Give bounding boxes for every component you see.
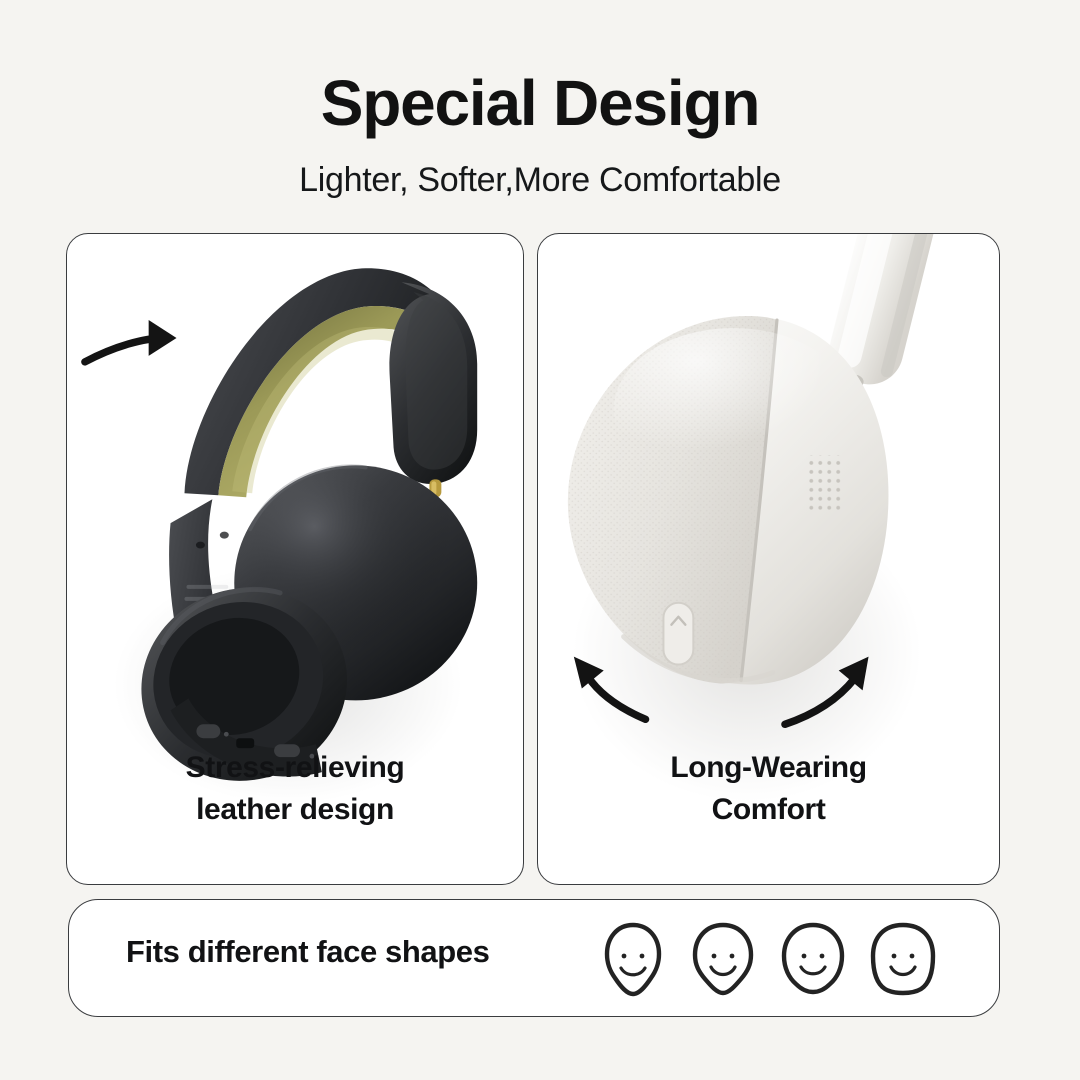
annotation-arrow-icon <box>85 320 177 362</box>
fits-face-shapes-label: Fits different face shapes <box>126 934 489 970</box>
face-icon-long <box>595 918 671 1000</box>
caption-line-1: Stress-relieving <box>67 747 523 790</box>
annotation-arrow-right-icon <box>785 657 869 725</box>
face-shape-icon-row <box>595 918 941 1000</box>
feature-card-stress-relieving[interactable]: Stress-relieving leather design <box>66 233 524 885</box>
page-title: Special Design <box>0 70 1080 137</box>
fits-face-shapes-bar[interactable]: Fits different face shapes <box>68 899 1000 1017</box>
caption-line-2: Comfort <box>538 789 999 832</box>
face-icon-round <box>775 918 851 1000</box>
card-caption-right: Long-Wearing Comfort <box>538 747 999 832</box>
caption-line-2: leather design <box>67 789 523 832</box>
caption-line-1: Long-Wearing <box>538 747 999 790</box>
card-caption-left: Stress-relieving leather design <box>67 747 523 832</box>
poster-canvas: Special Design Lighter, Softer,More Comf… <box>0 0 1080 1080</box>
face-icon-oval <box>685 918 761 1000</box>
page-subtitle: Lighter, Softer,More Comfortable <box>0 162 1080 199</box>
feature-card-long-wearing[interactable]: Long-Wearing Comfort <box>537 233 1000 885</box>
annotation-arrow-left-icon <box>574 657 646 720</box>
face-icon-square <box>865 918 941 1000</box>
